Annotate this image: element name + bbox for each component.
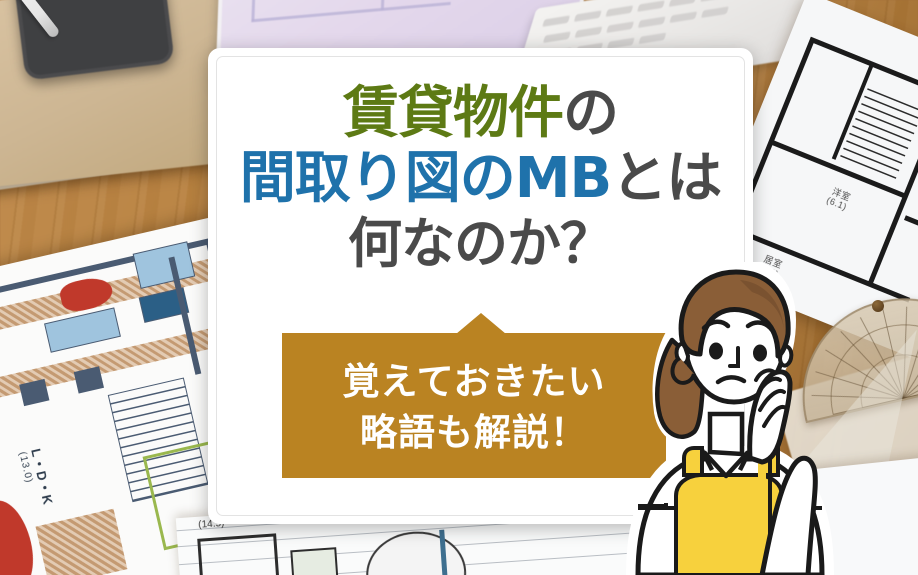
- title-line-2-blue: 間取り図のMB: [240, 146, 611, 211]
- page-title: 賃貸物件の 間取り図のMBとは 何なのか？: [208, 82, 753, 274]
- title-line-2: 間取り図のMBとは: [208, 147, 753, 210]
- desk-bolt: [872, 300, 884, 312]
- banner-notch-arrow: [456, 313, 506, 334]
- banner-line-1: 覚えておきたい: [282, 356, 666, 407]
- character-eye-right: [753, 345, 767, 362]
- character-eye-left: [709, 343, 723, 360]
- banner-text: 覚えておきたい 略語も解説！: [282, 356, 666, 458]
- character-illustration: [622, 262, 836, 575]
- title-line-3-gray: 何なのか？: [348, 212, 613, 275]
- subtitle-banner: 覚えておきたい 略語も解説！: [282, 333, 666, 478]
- title-line-1-green: 賃貸物件: [343, 81, 563, 146]
- title-line-2-gray: とは: [611, 146, 721, 211]
- title-line-1: 賃貸物件の: [208, 82, 753, 145]
- thumbnail-canvas: 洋室 (6.1) 居室 (2.0): [0, 0, 918, 575]
- title-line-1-gray: の: [563, 81, 618, 146]
- banner-line-2: 略語も解説！: [282, 407, 666, 458]
